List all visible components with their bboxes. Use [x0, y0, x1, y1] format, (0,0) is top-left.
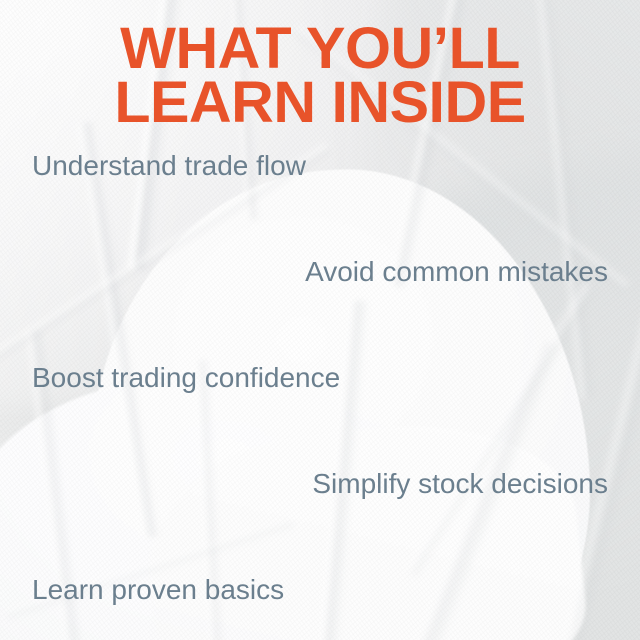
headline: WHAT YOU’LL LEARN INSIDE — [0, 22, 640, 130]
bullet-item-3: Boost trading confidence — [32, 362, 608, 394]
poster-content: WHAT YOU’LL LEARN INSIDE Understand trad… — [0, 0, 640, 640]
bullet-item-2: Avoid common mistakes — [32, 256, 608, 288]
headline-line-2: LEARN INSIDE — [0, 76, 640, 130]
bullet-item-5: Learn proven basics — [32, 574, 608, 606]
bullet-item-1: Understand trade flow — [32, 150, 608, 182]
headline-line-1: WHAT YOU’LL — [0, 22, 640, 76]
bullet-item-4: Simplify stock decisions — [32, 468, 608, 500]
poster-canvas: WHAT YOU’LL LEARN INSIDE Understand trad… — [0, 0, 640, 640]
bullet-list: Understand trade flow Avoid common mista… — [0, 150, 640, 606]
